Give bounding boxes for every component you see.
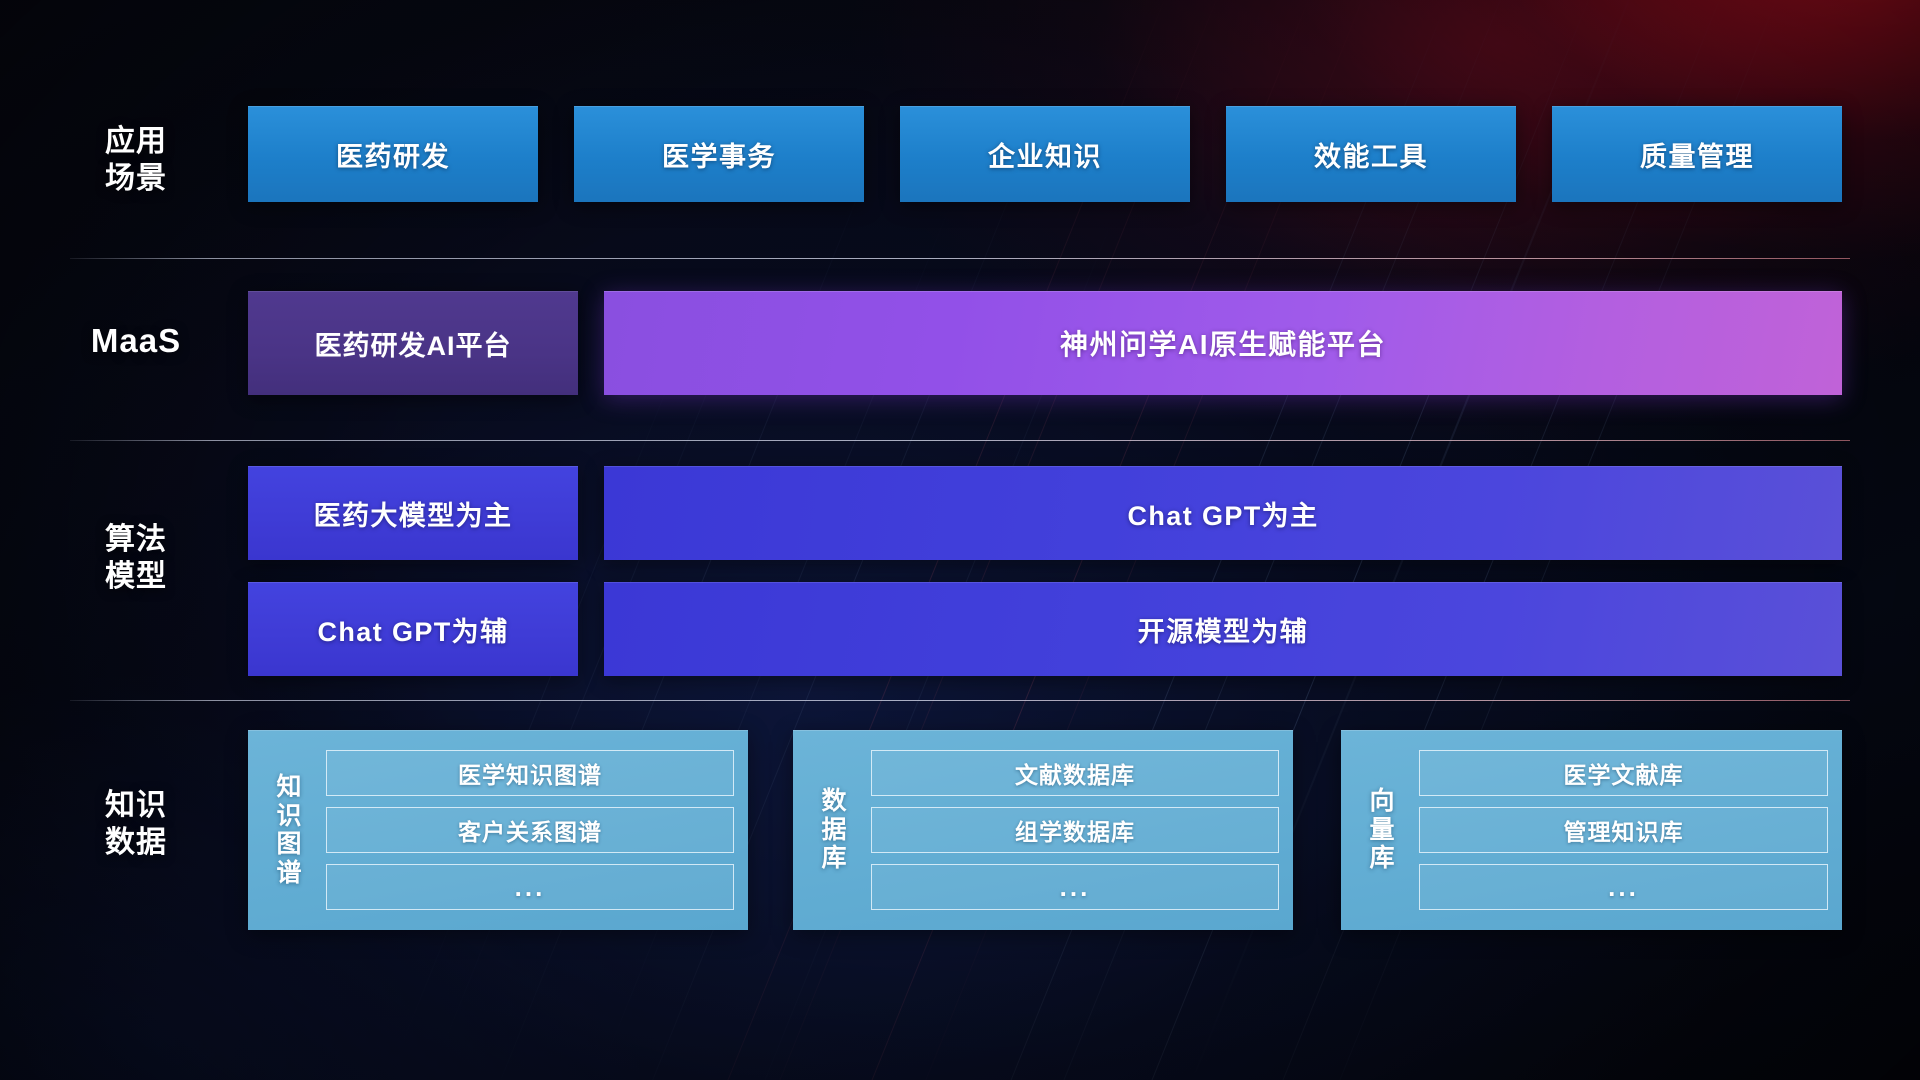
row-label-line: 应用 bbox=[70, 124, 202, 161]
row-label-line: MaaS bbox=[70, 321, 202, 361]
vertical-label-char: 库 bbox=[1369, 844, 1394, 873]
row-label-knowledge-data: 知识 数据 bbox=[70, 788, 202, 861]
knowledge-group-vertical-label-vector-store: 向 量 库 bbox=[1351, 740, 1413, 920]
vertical-label-char: 图 bbox=[276, 830, 301, 859]
row-label-application-scenarios: 应用 场景 bbox=[70, 124, 202, 197]
vertical-label-char: 数 bbox=[821, 787, 846, 816]
scenario-box-enterprise-knowledge[interactable]: 企业知识 bbox=[900, 106, 1190, 202]
divider-3 bbox=[70, 700, 1850, 701]
knowledge-group-knowledge-graph[interactable]: 知 识 图 谱 医学知识图谱 客户关系图谱 ... bbox=[248, 730, 748, 930]
knowledge-item-list: 医学知识图谱 客户关系图谱 ... bbox=[320, 740, 734, 920]
vertical-label-char: 向 bbox=[1369, 787, 1394, 816]
architecture-diagram: 应用 场景 医药研发 医学事务 企业知识 效能工具 质量管理 MaaS 医药研发… bbox=[0, 0, 1920, 1080]
knowledge-item-more[interactable]: ... bbox=[326, 864, 734, 910]
knowledge-item-list: 医学文献库 管理知识库 ... bbox=[1413, 740, 1828, 920]
knowledge-item-customer-relation-graph[interactable]: 客户关系图谱 bbox=[326, 807, 734, 853]
maas-box-medicine-rd-ai-platform[interactable]: 医药研发AI平台 bbox=[248, 291, 578, 395]
row-label-line: 数据 bbox=[70, 825, 202, 862]
row-label-line: 模型 bbox=[70, 559, 202, 596]
divider-2 bbox=[70, 440, 1850, 441]
scenario-box-medicine-rd[interactable]: 医药研发 bbox=[248, 106, 538, 202]
row-label-algorithm-models: 算法 模型 bbox=[70, 522, 202, 595]
row-label-line: 算法 bbox=[70, 522, 202, 559]
vertical-label-char: 知 bbox=[276, 773, 301, 802]
vertical-label-char: 量 bbox=[1369, 816, 1394, 845]
scenario-box-quality-management[interactable]: 质量管理 bbox=[1552, 106, 1842, 202]
row-label-line: 场景 bbox=[70, 161, 202, 198]
algorithm-box-chatgpt-secondary[interactable]: Chat GPT为辅 bbox=[248, 582, 578, 676]
divider-1 bbox=[70, 258, 1850, 259]
knowledge-item-medical-literature-store[interactable]: 医学文献库 bbox=[1419, 750, 1828, 796]
maas-box-shenzhou-wenxue-platform[interactable]: 神州问学AI原生赋能平台 bbox=[604, 291, 1842, 395]
knowledge-group-database[interactable]: 数 据 库 文献数据库 组学数据库 ... bbox=[793, 730, 1293, 930]
row-label-line: 知识 bbox=[70, 788, 202, 825]
vertical-label-char: 谱 bbox=[276, 859, 301, 888]
knowledge-item-management-knowledge-store[interactable]: 管理知识库 bbox=[1419, 807, 1828, 853]
knowledge-item-more[interactable]: ... bbox=[871, 864, 1279, 910]
scenario-box-medical-affairs[interactable]: 医学事务 bbox=[574, 106, 864, 202]
knowledge-item-list: 文献数据库 组学数据库 ... bbox=[865, 740, 1279, 920]
knowledge-item-omics-database[interactable]: 组学数据库 bbox=[871, 807, 1279, 853]
knowledge-group-vertical-label-knowledge-graph: 知 识 图 谱 bbox=[258, 740, 320, 920]
vertical-label-char: 识 bbox=[276, 802, 301, 831]
scenario-box-efficiency-tools[interactable]: 效能工具 bbox=[1226, 106, 1516, 202]
algorithm-box-medicine-large-model-primary[interactable]: 医药大模型为主 bbox=[248, 466, 578, 560]
row-label-maas: MaaS bbox=[70, 321, 202, 361]
algorithm-box-open-source-model-secondary[interactable]: 开源模型为辅 bbox=[604, 582, 1842, 676]
knowledge-item-literature-database[interactable]: 文献数据库 bbox=[871, 750, 1279, 796]
knowledge-item-medical-knowledge-graph[interactable]: 医学知识图谱 bbox=[326, 750, 734, 796]
knowledge-item-more[interactable]: ... bbox=[1419, 864, 1828, 910]
vertical-label-char: 库 bbox=[821, 844, 846, 873]
vertical-label-char: 据 bbox=[821, 816, 846, 845]
algorithm-box-chatgpt-primary[interactable]: Chat GPT为主 bbox=[604, 466, 1842, 560]
knowledge-group-vertical-label-database: 数 据 库 bbox=[803, 740, 865, 920]
knowledge-group-vector-store[interactable]: 向 量 库 医学文献库 管理知识库 ... bbox=[1341, 730, 1842, 930]
